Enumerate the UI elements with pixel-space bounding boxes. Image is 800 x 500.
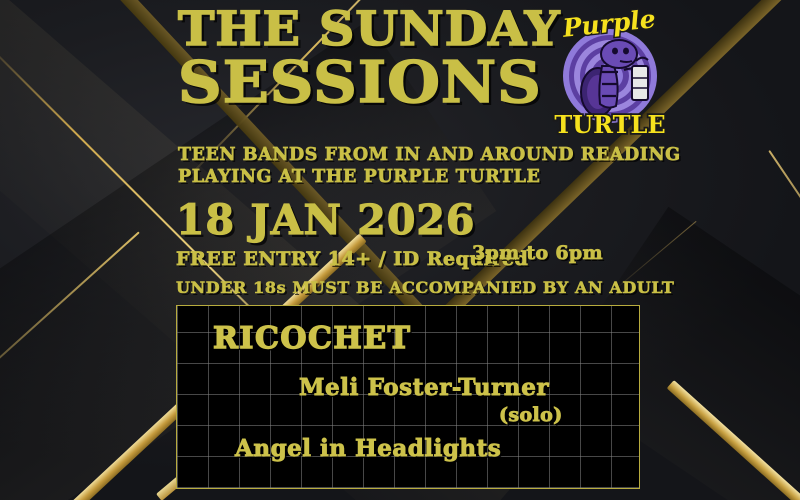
lineup-band-1: RICOCHET (213, 321, 411, 356)
event-date: 18 JAN 2026 (176, 200, 674, 241)
logo-word-turtle: TURTLE (554, 110, 665, 139)
headline-block: THE SUNDAY SESSIONS (178, 8, 558, 110)
purple-turtle-icon: Purple TURTLE (540, 6, 680, 141)
entry-row: FREE ENTRY 14+ / ID Required 3pm to 6pm (176, 248, 674, 270)
lineup-band-2-note: (solo) (499, 404, 563, 426)
logo-word-purple: Purple (560, 6, 657, 43)
under-18-notice: UNDER 18s MUST BE ACCOMPANIED BY AN ADUL… (176, 278, 674, 297)
poster-canvas: THE SUNDAY SESSIONS (0, 0, 800, 500)
subtitle-block: TEEN BANDS FROM IN AND AROUND READING PL… (178, 144, 681, 189)
subtitle-line-2: PLAYING AT THE PURPLE TURTLE (178, 166, 681, 188)
headline-line-2: SESSIONS (178, 57, 581, 109)
lineup-box: RICOCHET Meli Foster-Turner (solo) Angel… (176, 305, 640, 489)
subtitle-line-1: TEEN BANDS FROM IN AND AROUND READING (178, 144, 681, 166)
lineup-band-2: Meli Foster-Turner (299, 374, 549, 401)
purple-turtle-logo: Purple TURTLE (540, 6, 680, 141)
lineup-band-3: Angel in Headlights (235, 435, 501, 462)
event-time: 3pm to 6pm (472, 242, 603, 264)
headline-line-1: THE SUNDAY (178, 8, 573, 51)
date-block: 18 JAN 2026 FREE ENTRY 14+ / ID Required… (176, 200, 674, 297)
